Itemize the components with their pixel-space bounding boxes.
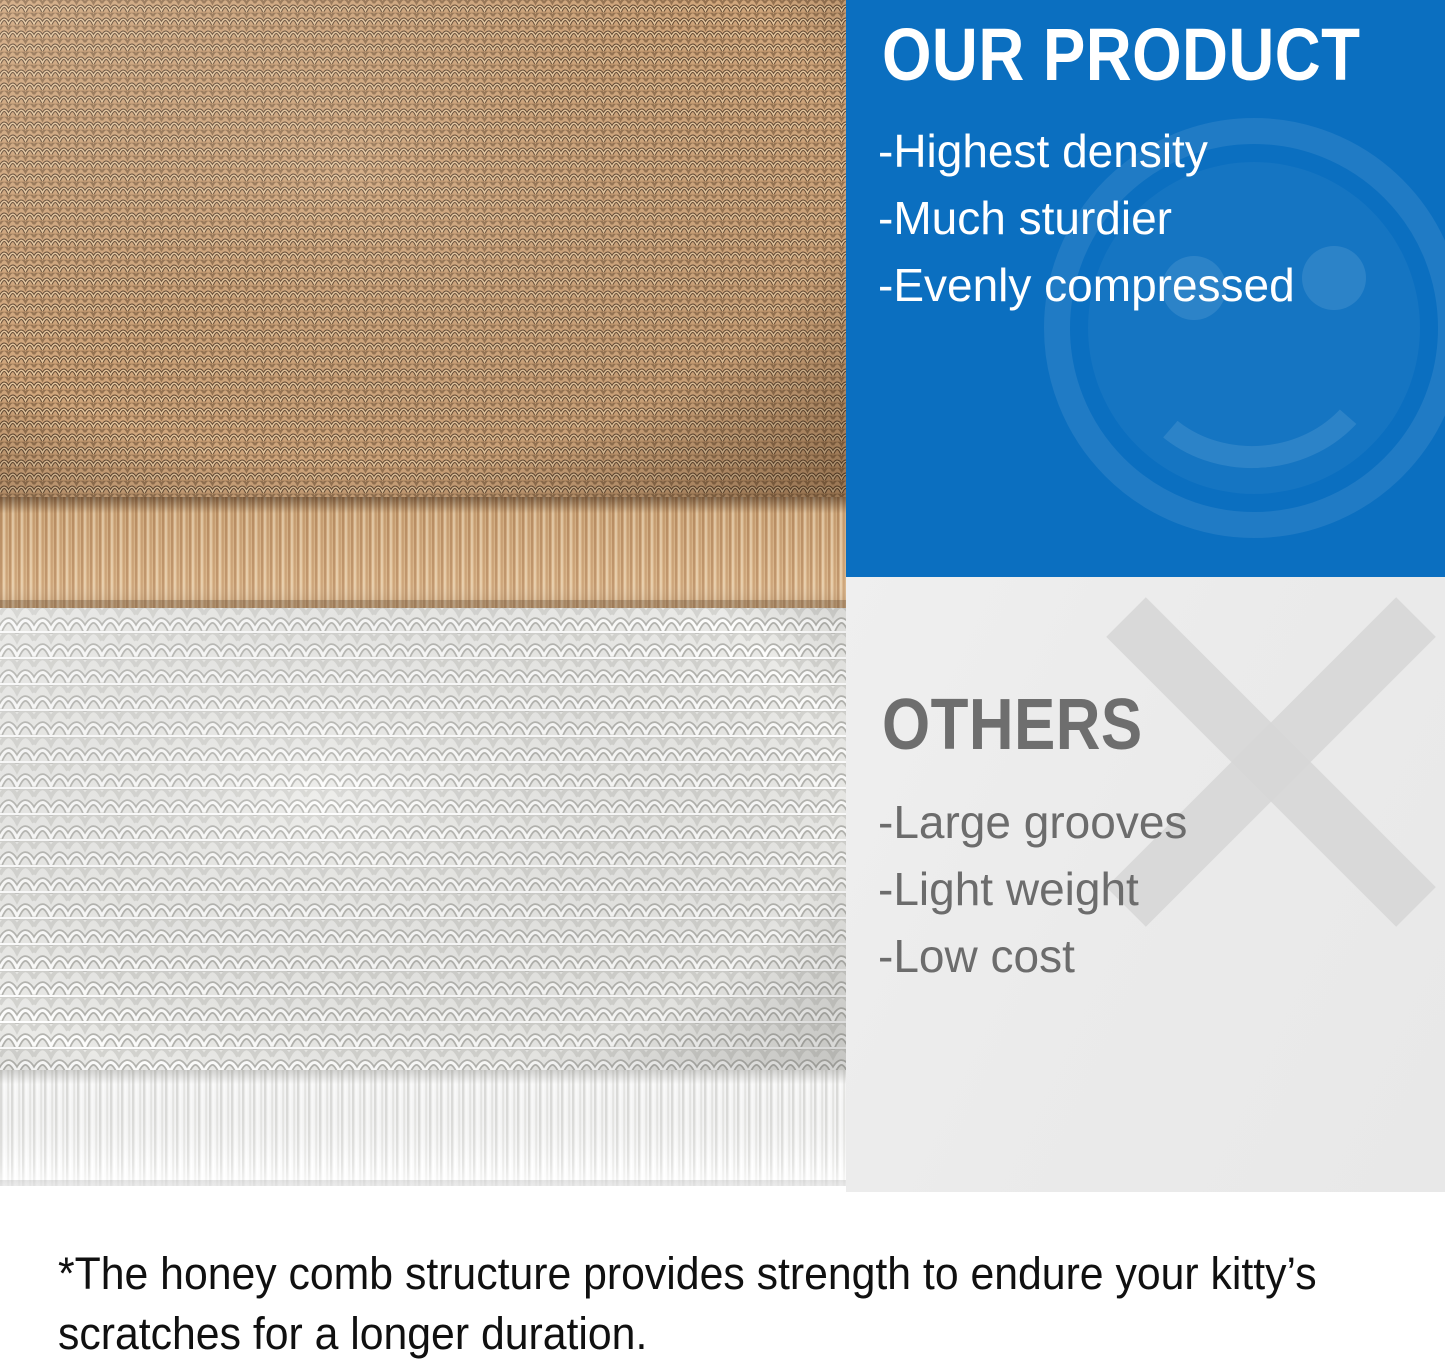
white-slab-fringe-edge	[0, 1070, 846, 1188]
others-bullet-3: -Low cost	[878, 923, 1187, 990]
others-bullet-1: -Large grooves	[878, 789, 1187, 856]
our-product-bullet-1: -Highest density	[878, 118, 1295, 185]
others-bullet-list: -Large grooves -Light weight -Low cost	[878, 789, 1187, 990]
footnote-text: *The honey comb structure provides stren…	[58, 1244, 1336, 1364]
tan-honeycomb-photo	[0, 0, 846, 505]
infographic-root: OUR PRODUCT -Highest density -Much sturd…	[0, 0, 1445, 1369]
others-panel: OTHERS -Large grooves -Light weight -Low…	[846, 577, 1445, 1192]
white-fringe-texture	[0, 1070, 846, 1188]
our-product-bullet-2: -Much sturdier	[878, 185, 1295, 252]
our-product-panel: OUR PRODUCT -Highest density -Much sturd…	[846, 0, 1445, 577]
others-heading: OTHERS	[882, 689, 1143, 761]
our-product-bullet-3: -Evenly compressed	[878, 252, 1295, 319]
others-bullet-2: -Light weight	[878, 856, 1187, 923]
white-honeycomb-photo	[0, 608, 846, 1076]
our-product-bullet-list: -Highest density -Much sturdier -Evenly …	[878, 118, 1295, 319]
tan-fringe-texture	[0, 497, 846, 615]
our-product-heading: OUR PRODUCT	[882, 18, 1360, 92]
tan-slab-fringe-edge	[0, 497, 846, 615]
white-honeycomb-texture	[0, 608, 846, 1076]
tan-honeycomb-texture	[0, 0, 846, 505]
